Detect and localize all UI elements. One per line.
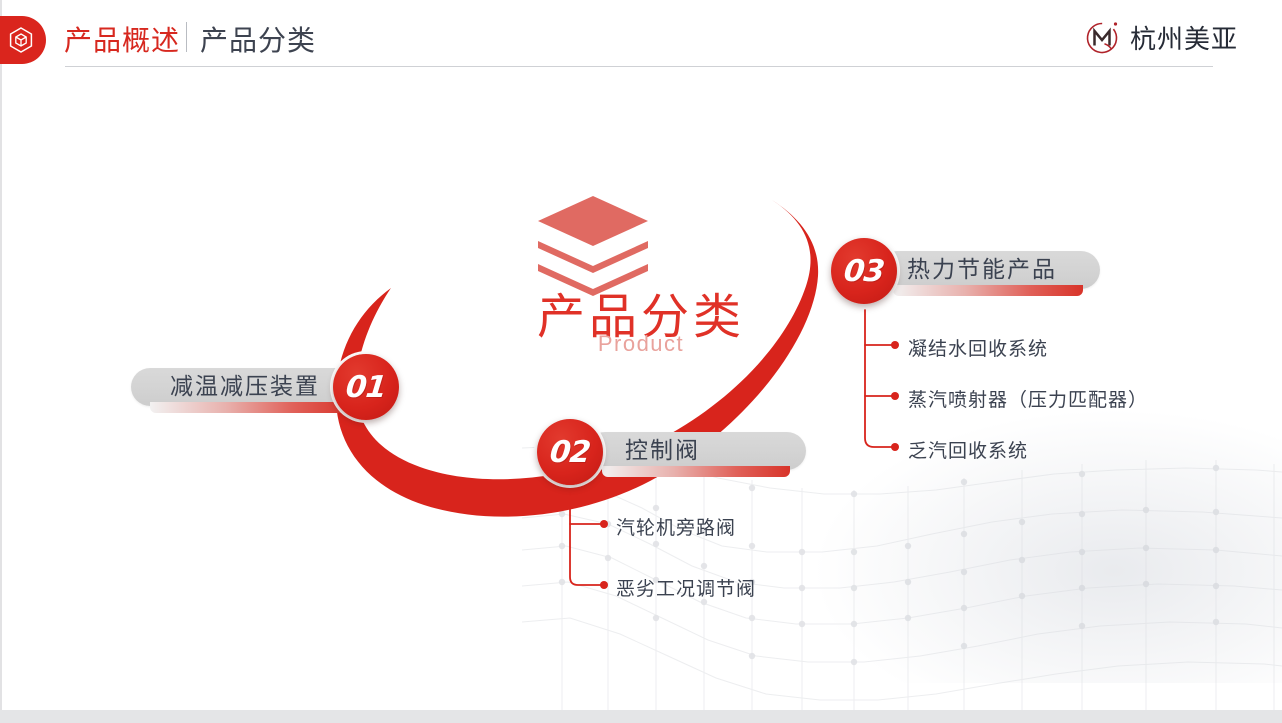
- center-emblem-layer: [0, 0, 1282, 723]
- node-03-item-1[interactable]: 蒸汽喷射器（压力匹配器）: [908, 385, 1148, 412]
- node-02-item-0[interactable]: 汽轮机旁路阀: [616, 513, 736, 540]
- meiya-circle-m-logo-icon: [1083, 17, 1123, 57]
- node-03-label: 热力节能产品: [907, 251, 1057, 289]
- page-title: 产品概述: [64, 19, 180, 59]
- header-rule: [65, 66, 1213, 67]
- node-02-number: 02: [548, 435, 591, 470]
- node-03-number: 03: [842, 254, 885, 289]
- header-divider: [186, 22, 187, 52]
- background-glow: [802, 403, 1282, 683]
- cube-hexagon-icon: [7, 26, 35, 54]
- node-03-item-2[interactable]: 乏汽回收系统: [908, 436, 1028, 463]
- connector-lines-node-02: [0, 0, 1282, 723]
- node-03-item-0[interactable]: 凝结水回收系统: [908, 334, 1048, 361]
- page-subtitle: 产品分类: [200, 19, 316, 59]
- node-02-label: 控制阀: [625, 432, 700, 470]
- center-subtitle-wrap: Product: [0, 331, 1282, 357]
- node-01-label: 减温减压装置: [170, 368, 320, 406]
- center-subtitle: Product: [598, 331, 684, 356]
- node-03-badge[interactable]: 03: [831, 238, 897, 304]
- node-02-item-1[interactable]: 恶劣工况调节阀: [616, 574, 756, 601]
- slide-bottom-strip: [0, 710, 1282, 723]
- node-01-badge[interactable]: 01: [333, 354, 399, 420]
- layers-stack-icon: [538, 196, 648, 296]
- connector-lines-node-03: [0, 0, 1282, 723]
- slide-header: 产品概述 产品分类 杭州美亚: [0, 0, 1282, 80]
- slide-left-border: [0, 0, 2, 723]
- node-01-number: 01: [344, 370, 387, 405]
- brand-block: 杭州美亚: [1083, 17, 1238, 57]
- brand-name: 杭州美亚: [1130, 19, 1238, 56]
- header-badge: [0, 16, 46, 64]
- slide-canvas: 产品概述 产品分类 杭州美亚 产品分类 Product: [0, 0, 1282, 723]
- node-02-badge[interactable]: 02: [537, 419, 603, 485]
- red-swoosh-arc: [0, 0, 1282, 723]
